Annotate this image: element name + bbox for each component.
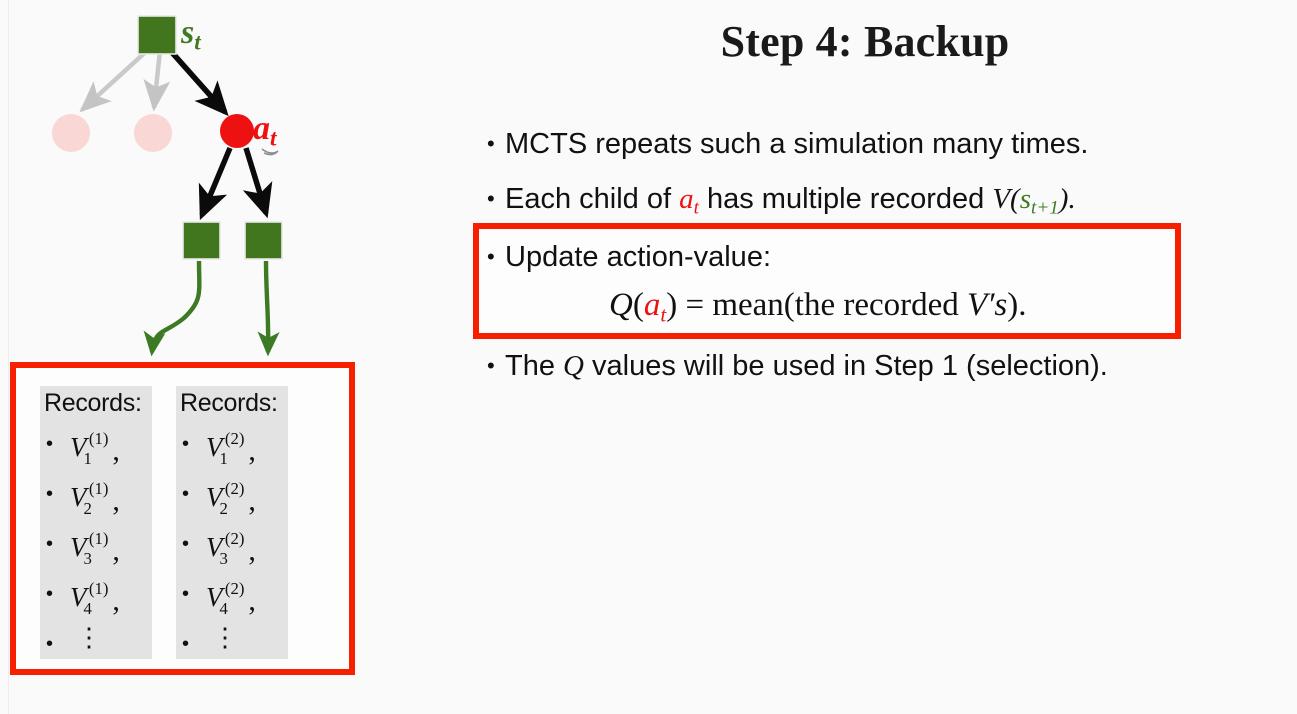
bullet-marker: • [487,244,505,270]
bullet-marker: • [487,131,505,157]
records-title: Records: [40,386,152,418]
page-title: Step 4: Backup [470,16,1260,67]
bullet-marker: • [487,186,505,212]
backup-arrow-2 [266,261,268,352]
list-item: V3(1), [40,520,152,570]
inline-math-st1: st+1 [1020,183,1059,215]
pruned-action-node-1 [52,114,90,152]
list-item-ellipsis: ⋮ [176,620,288,666]
bullet-item-1: •MCTS repeats such a simulation many tim… [487,128,1267,161]
list-item: V1(1), [40,420,152,470]
records-column-2: Records: V1(2), V2(2), V3(2), V4(2), ⋮ [176,386,288,659]
equation-highlight-box: •Update action-value: Q(at) = mean(the r… [473,223,1181,339]
records-title: Records: [176,386,288,418]
bullet-text: Update action-value: [505,241,771,273]
selected-edge [168,48,225,112]
pruned-action-node-2 [134,114,172,152]
slide-canvas: st at Records: V1(1), V2(1), V3(1), V4(1… [0,0,1297,714]
list-item: V4(1), [40,570,152,620]
equation-at: at [644,287,666,323]
edge-to-child-2 [246,148,266,213]
records-highlight-box: Records: V1(1), V2(1), V3(1), V4(1), ⋮ R… [10,362,355,675]
state-label-st: st [181,14,201,56]
state-node-child-1 [183,222,220,259]
list-item: V2(1), [40,470,152,520]
records-column-1: Records: V1(1), V2(1), V3(1), V4(1), ⋮ [40,386,152,659]
state-node-child-2 [245,222,282,259]
state-node-root [138,16,176,54]
bullet-item-4: •The Q values will be used in Step 1 (se… [487,350,1267,383]
inline-math-q: Q [563,350,584,382]
list-item: V1(2), [176,420,288,470]
pruned-edges [82,48,160,110]
action-node-at [220,114,254,148]
inline-math-at: at [679,183,699,215]
action-label-at: at [253,110,276,152]
list-item: V2(2), [176,470,288,520]
list-item: V3(2), [176,520,288,570]
bullet-text: MCTS repeats such a simulation many time… [505,128,1088,160]
bullet-item-2: •Each child of at has multiple recorded … [487,183,1267,219]
bullet-item-3: •Update action-value: [487,241,771,274]
backup-arrow-1 [152,261,199,352]
records-list: V1(2), V2(2), V3(2), V4(2), ⋮ [176,418,288,666]
inline-math-v: V [992,183,1010,215]
action-value-equation: Q(at) = mean(the recorded V′s). [609,287,1027,327]
list-item: V4(2), [176,570,288,620]
edge-to-child-1 [202,148,230,215]
list-item-ellipsis: ⋮ [40,620,152,666]
records-list: V1(1), V2(1), V3(1), V4(1), ⋮ [40,418,152,666]
bullet-marker: • [487,353,505,379]
